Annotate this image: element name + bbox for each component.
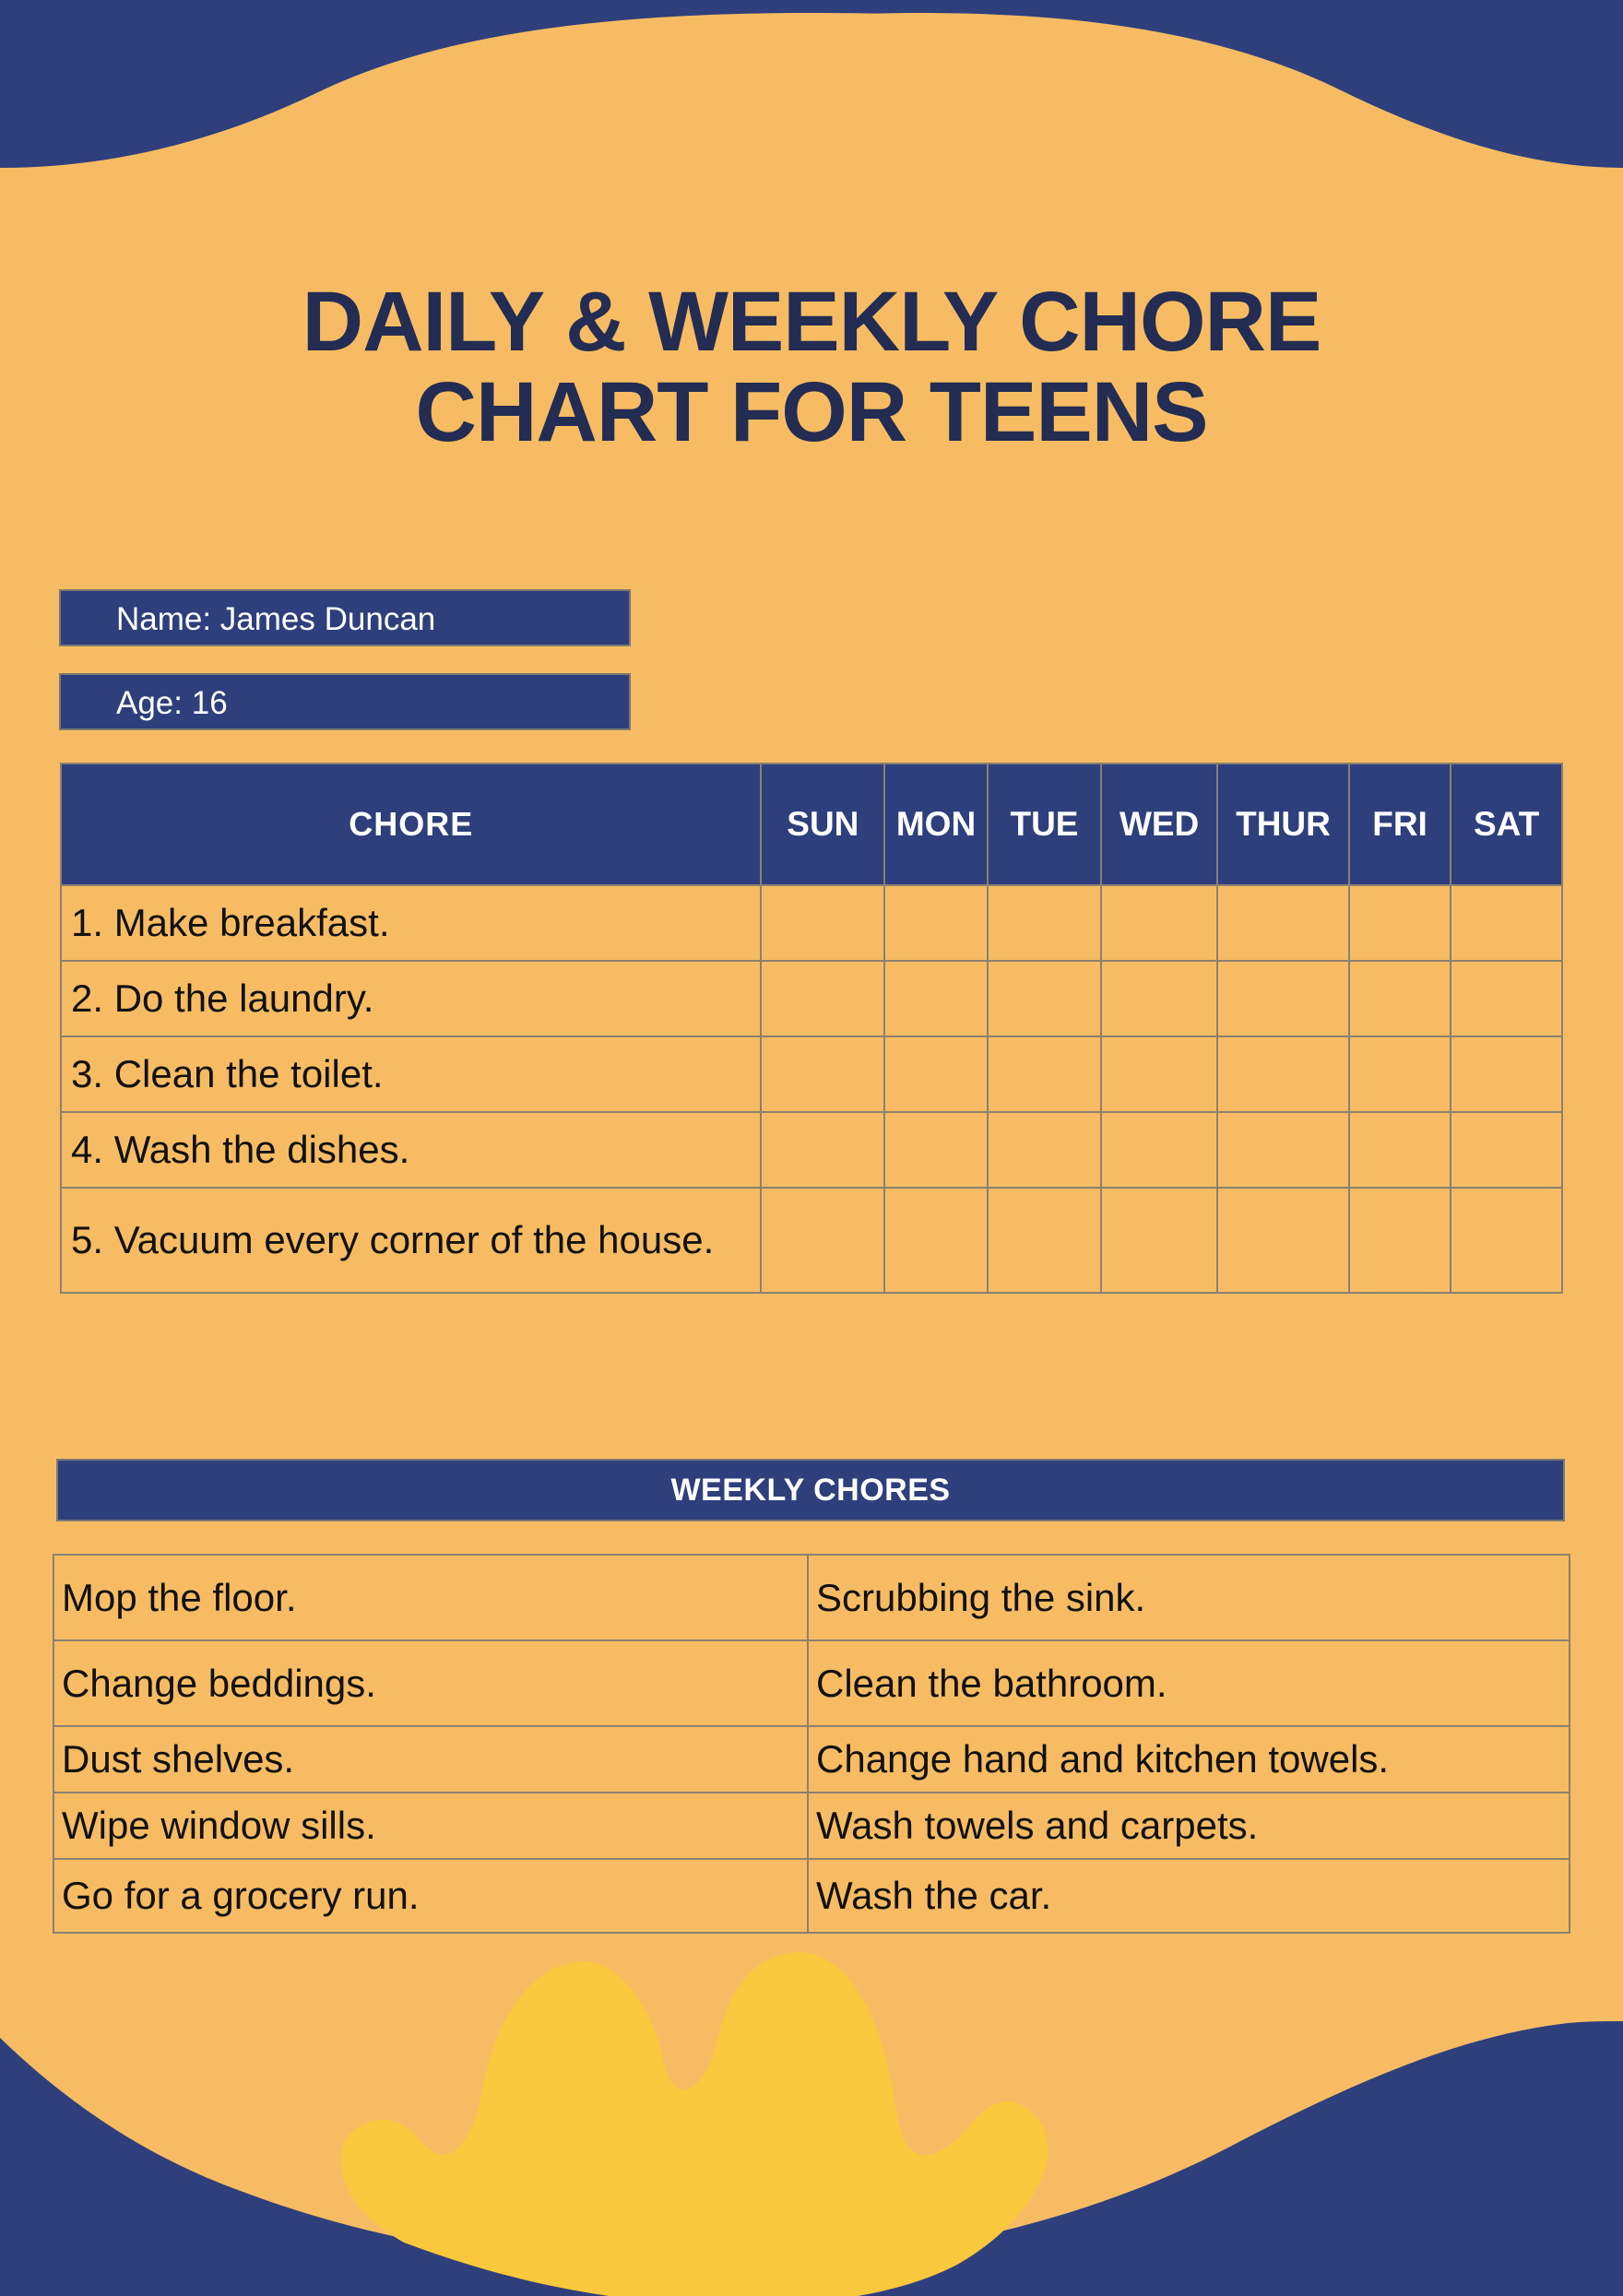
checkbox-cell-sat[interactable] [1451,961,1562,1036]
table-row: 2. Do the laundry. [61,961,1562,1036]
table-row: Go for a grocery run. Wash the car. [53,1859,1570,1933]
weekly-chore-left: Change beddings. [53,1640,808,1726]
column-header-sat: SAT [1451,763,1562,885]
checkbox-cell-fri[interactable] [1349,1112,1451,1188]
checkbox-cell-tue[interactable] [988,885,1101,961]
table-row: Wipe window sills. Wash towels and carpe… [53,1793,1570,1859]
checkbox-cell-mon[interactable] [884,961,988,1036]
checkbox-cell-thur[interactable] [1217,1112,1349,1188]
column-header-sun: SUN [761,763,884,885]
column-header-mon: MON [884,763,988,885]
checkbox-cell-tue[interactable] [988,961,1101,1036]
weekly-chore-table: Mop the floor. Scrubbing the sink. Chang… [53,1554,1570,1934]
name-field[interactable]: Name: James Duncan [59,589,631,646]
column-header-chore: CHORE [61,763,761,885]
checkbox-cell-tue[interactable] [988,1036,1101,1112]
checkbox-cell-fri[interactable] [1349,885,1451,961]
checkbox-cell-sun[interactable] [761,1112,884,1188]
age-field[interactable]: Age: 16 [59,673,631,730]
checkbox-cell-sat[interactable] [1451,1036,1562,1112]
table-row: Dust shelves. Change hand and kitchen to… [53,1726,1570,1793]
column-header-thur: THUR [1217,763,1349,885]
checkbox-cell-fri[interactable] [1349,1188,1451,1293]
chore-label: 5. Vacuum every corner of the house. [61,1188,761,1293]
weekly-chore-right: Wash towels and carpets. [808,1793,1570,1859]
table-row: 1. Make breakfast. [61,885,1562,961]
weekly-chore-right: Wash the car. [808,1859,1570,1933]
checkbox-cell-thur[interactable] [1217,885,1349,961]
checkbox-cell-wed[interactable] [1101,1188,1217,1293]
checkbox-cell-fri[interactable] [1349,961,1451,1036]
table-row: Mop the floor. Scrubbing the sink. [53,1555,1570,1640]
table-row: Change beddings. Clean the bathroom. [53,1640,1570,1726]
checkbox-cell-sat[interactable] [1451,885,1562,961]
chore-label: 4. Wash the dishes. [61,1112,761,1188]
checkbox-cell-sun[interactable] [761,885,884,961]
column-header-wed: WED [1101,763,1217,885]
checkbox-cell-wed[interactable] [1101,1112,1217,1188]
checkbox-cell-tue[interactable] [988,1112,1101,1188]
page-title-line-1: DAILY & WEEKLY CHORE [138,277,1485,367]
daily-chore-table: CHORE SUN MON TUE WED THUR FRI SAT 1. Ma… [60,763,1563,1294]
checkbox-cell-fri[interactable] [1349,1036,1451,1112]
table-row: 4. Wash the dishes. [61,1112,1562,1188]
weekly-chores-heading: WEEKLY CHORES [56,1459,1565,1521]
chore-label: 1. Make breakfast. [61,885,761,961]
checkbox-cell-mon[interactable] [884,885,988,961]
checkbox-cell-thur[interactable] [1217,1036,1349,1112]
chore-label: 3. Clean the toilet. [61,1036,761,1112]
weekly-chore-left: Dust shelves. [53,1726,808,1793]
checkbox-cell-sat[interactable] [1451,1188,1562,1293]
column-header-tue: TUE [988,763,1101,885]
daily-table-header-row: CHORE SUN MON TUE WED THUR FRI SAT [61,763,1562,885]
weekly-chore-right: Clean the bathroom. [808,1640,1570,1726]
weekly-chore-right: Change hand and kitchen towels. [808,1726,1570,1793]
weekly-chore-left: Wipe window sills. [53,1793,808,1859]
page-title: DAILY & WEEKLY CHORE CHART FOR TEENS [138,277,1485,458]
checkbox-cell-tue[interactable] [988,1188,1101,1293]
table-row: 3. Clean the toilet. [61,1036,1562,1112]
checkbox-cell-mon[interactable] [884,1036,988,1112]
checkbox-cell-mon[interactable] [884,1112,988,1188]
checkbox-cell-mon[interactable] [884,1188,988,1293]
table-row: 5. Vacuum every corner of the house. [61,1188,1562,1293]
checkbox-cell-sun[interactable] [761,1036,884,1112]
chore-chart-page: DAILY & WEEKLY CHORE CHART FOR TEENS Nam… [0,0,1623,2296]
checkbox-cell-sun[interactable] [761,961,884,1036]
checkbox-cell-thur[interactable] [1217,1188,1349,1293]
weekly-chore-right: Scrubbing the sink. [808,1555,1570,1640]
checkbox-cell-wed[interactable] [1101,1036,1217,1112]
column-header-fri: FRI [1349,763,1451,885]
page-title-line-2: CHART FOR TEENS [138,367,1485,457]
weekly-chore-left: Mop the floor. [53,1555,808,1640]
weekly-chore-left: Go for a grocery run. [53,1859,808,1933]
checkbox-cell-sun[interactable] [761,1188,884,1293]
checkbox-cell-sat[interactable] [1451,1112,1562,1188]
checkbox-cell-thur[interactable] [1217,961,1349,1036]
checkbox-cell-wed[interactable] [1101,885,1217,961]
checkbox-cell-wed[interactable] [1101,961,1217,1036]
chore-label: 2. Do the laundry. [61,961,761,1036]
